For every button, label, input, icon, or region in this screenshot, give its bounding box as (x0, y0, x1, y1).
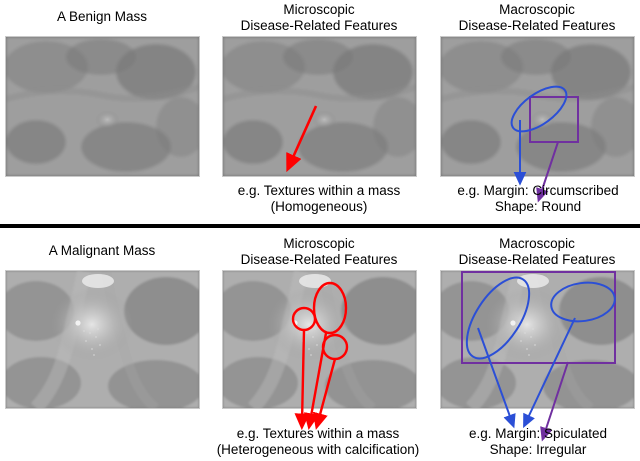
caption-line: Shape: Irregular (440, 442, 636, 458)
title-line: Disease-Related Features (440, 18, 634, 34)
title-malignant-microscopic: Microscopic Disease-Related Features (222, 236, 416, 267)
mammogram-image-malignant-macro (441, 271, 634, 408)
panel-malignant-original (5, 270, 200, 409)
caption-benign-macroscopic: e.g. Margin: Circumscribed Shape: Round (440, 183, 636, 215)
caption-line: e.g. Margin: Circumscribed (440, 183, 636, 199)
mammogram-image-benign (6, 37, 199, 176)
mammogram-image-benign-macro (441, 37, 634, 176)
panel-benign-original (5, 36, 200, 177)
caption-benign-microscopic: e.g. Textures within a mass (Homogeneous… (210, 183, 428, 215)
title-line: Disease-Related Features (222, 252, 416, 268)
title-line: A Malignant Mass (5, 243, 199, 259)
caption-line: e.g. Margin: Spiculated (440, 426, 636, 442)
caption-line: Shape: Round (440, 199, 636, 215)
title-benign-macroscopic: Macroscopic Disease-Related Features (440, 2, 634, 33)
panel-malignant-macroscopic (440, 270, 635, 409)
title-line: A Benign Mass (5, 9, 199, 25)
caption-line: (Heterogeneous with calcification) (196, 442, 440, 458)
caption-line: (Homogeneous) (210, 199, 428, 215)
mammogram-image-benign-micro (223, 37, 416, 176)
caption-malignant-macroscopic: e.g. Margin: Spiculated Shape: Irregular (440, 426, 636, 458)
title-line: Macroscopic (440, 2, 634, 18)
title-benign-microscopic: Microscopic Disease-Related Features (222, 2, 416, 33)
title-malignant-original: A Malignant Mass (5, 243, 199, 259)
caption-line: e.g. Textures within a mass (196, 426, 440, 442)
title-line: Disease-Related Features (222, 18, 416, 34)
mammogram-image-malignant-micro (223, 271, 416, 408)
row-divider (0, 224, 640, 228)
title-malignant-macroscopic: Macroscopic Disease-Related Features (440, 236, 634, 267)
panel-benign-macroscopic (440, 36, 635, 177)
title-line: Disease-Related Features (440, 252, 634, 268)
panel-malignant-microscopic (222, 270, 417, 409)
caption-line: e.g. Textures within a mass (210, 183, 428, 199)
title-line: Microscopic (222, 236, 416, 252)
panel-benign-microscopic (222, 36, 417, 177)
title-line: Microscopic (222, 2, 416, 18)
mammogram-image-malignant (6, 271, 199, 408)
mammogram-feature-figure: A Benign Mass Microscopic Disease-Relate… (0, 0, 640, 461)
caption-malignant-microscopic: e.g. Textures within a mass (Heterogeneo… (196, 426, 440, 458)
title-benign-original: A Benign Mass (5, 9, 199, 25)
title-line: Macroscopic (440, 236, 634, 252)
